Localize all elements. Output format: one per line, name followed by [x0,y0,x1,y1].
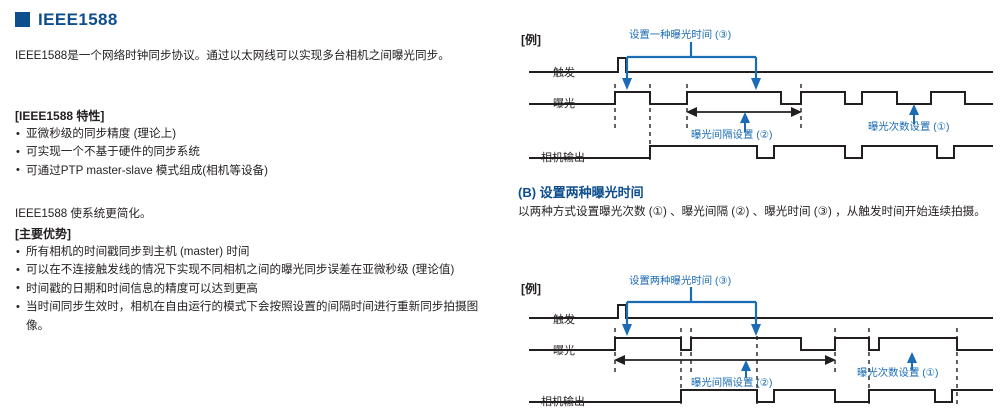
list-item: 时间戳的日期和时间信息的精度可以达到更高 [15,280,497,298]
intro-paragraph: IEEE1588是一个网络时钟同步协议。通过以太网线可以实现多台相机之间曝光同步… [15,47,490,66]
camera-output-waveform-2 [530,390,992,402]
annotation-interval-2: 曝光间隔设置 (②) [691,374,772,389]
list-item: 所有相机的时间戳同步到主机 (master) 时间 [15,243,497,261]
header-square-icon [15,12,30,27]
section-b-description: 以两种方式设置曝光次数 (①) 、曝光间隔 (②) 、曝光时间 (③) ，从触发… [518,203,996,221]
trigger-waveform-2 [530,305,992,318]
row-label-camera-output-2: 相机输出 [541,393,585,409]
row-label-trigger-2: 触发 [553,311,575,327]
bracket-right-arrowhead-2 [751,324,761,336]
annotation-exposure-time-1: 设置一种曝光时间 (③) [629,26,731,41]
example-label-2: [例] [521,280,541,297]
page-header: IEEE1588 [15,11,118,28]
bracket-left-arrowhead-1 [622,78,632,90]
right-column: [例] 触发 曝光 相机输出 设置一种曝光时间 (③) 曝光间隔设置 (②) 曝… [505,0,1000,416]
features-list: 亚微秒级的同步精度 (理论上) 可实现一个不基于硬件的同步系统 可通过PTP m… [15,125,480,180]
bracket-right-arrowhead-1 [751,78,761,90]
annotation-exposure-time-2: 设置两种曝光时间 (③) [629,272,731,287]
timing-diagram-2: [例] 触发 曝光 相机输出 设置两种曝光时间 (③) 曝光间隔设置 (②) 曝… [505,278,1000,416]
page-root: IEEE1588 IEEE1588是一个网络时钟同步协议。通过以太网线可以实现多… [0,0,1000,416]
features-heading: [IEEE1588 特性] [15,108,104,125]
example-label-1: [例] [521,31,541,48]
advantages-list: 所有相机的时间戳同步到主机 (master) 时间 可以在不连接触发线的情况下实… [15,243,497,335]
interval-pointer-head-1 [740,112,750,123]
annotation-interval-1: 曝光间隔设置 (②) [691,126,772,141]
row-label-exposure-2: 曝光 [553,342,575,358]
count-pointer-head-2 [907,352,917,363]
bracket-left-arrowhead-2 [622,324,632,336]
advantages-heading: [主要优势] [15,226,71,243]
annotation-count-1: 曝光次数设置 (①) [868,118,949,133]
exposure-waveform-2 [530,338,992,350]
trigger-waveform-1 [530,58,992,72]
section-b: (B) 设置两种曝光时间 以两种方式设置曝光次数 (①) 、曝光间隔 (②) 、… [518,183,996,221]
exposure-waveform-1 [530,92,992,104]
interval-pointer-head-2 [741,360,751,371]
left-column: IEEE1588 IEEE1588是一个网络时钟同步协议。通过以太网线可以实现多… [0,0,505,416]
list-item: 可以在不连接触发线的情况下实现不同相机之间的曝光同步误差在亚微秒级 (理论值) [15,261,497,279]
simplify-note: IEEE1588 使系统更简化。 [15,205,485,224]
row-label-camera-output-1: 相机输出 [541,149,585,165]
row-label-trigger-1: 触发 [553,64,575,80]
row-label-exposure-1: 曝光 [553,95,575,111]
list-item: 可通过PTP master-slave 模式组成(相机等设备) [15,162,480,180]
list-item: 亚微秒级的同步精度 (理论上) [15,125,480,143]
count-pointer-head-1 [909,104,919,115]
list-item: 当时间同步生效时，相机在自由运行的模式下会按照设置的间隔时间进行重新同步拍摄图像… [15,298,497,335]
list-item: 可实现一个不基于硬件的同步系统 [15,143,480,161]
timing-diagram-1: [例] 触发 曝光 相机输出 设置一种曝光时间 (③) 曝光间隔设置 (②) 曝… [505,0,1000,180]
annotation-count-2: 曝光次数设置 (①) [857,364,938,379]
camera-output-waveform-1 [530,146,992,158]
section-b-title: (B) 设置两种曝光时间 [518,183,996,202]
page-title: IEEE1588 [38,11,118,28]
